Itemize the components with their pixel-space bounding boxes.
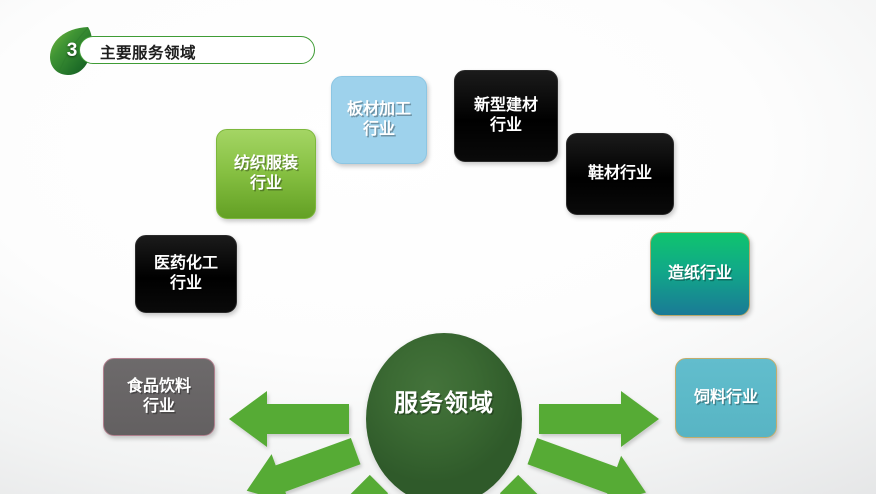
hub-label: 服务领域 [394, 383, 494, 418]
node-panel-label: 板材加工 行业 [347, 100, 411, 139]
node-textile[interactable]: 纺织服装 行业 [216, 129, 316, 219]
node-panel[interactable]: 板材加工 行业 [331, 76, 427, 164]
arrow-to-food [229, 391, 349, 447]
node-food-label: 食品饮料 行业 [127, 377, 191, 416]
slide-canvas: 3 主要服务领域 服务领域 纺织服装 行业板材加工 行业新型建材 行业鞋材行业医… [0, 0, 876, 494]
node-newmaterial[interactable]: 新型建材 行业 [454, 70, 558, 162]
hub-node-service-domain[interactable]: 服务领域 [366, 333, 522, 494]
node-pharma[interactable]: 医药化工 行业 [135, 235, 237, 313]
node-food[interactable]: 食品饮料 行业 [103, 358, 215, 436]
node-feed[interactable]: 饲料行业 [675, 358, 777, 438]
node-paper-label: 造纸行业 [668, 264, 732, 284]
node-paper[interactable]: 造纸行业 [650, 232, 750, 316]
arrow-to-feed [539, 391, 659, 447]
arrow-to-paper [528, 438, 647, 494]
node-feed-label: 饲料行业 [694, 388, 758, 408]
node-pharma-label: 医药化工 行业 [154, 254, 218, 293]
node-shoe-label: 鞋材行业 [588, 164, 652, 184]
arrow-to-pharma [247, 438, 361, 494]
node-textile-label: 纺织服装 行业 [234, 154, 298, 193]
node-newmaterial-label: 新型建材 行业 [474, 96, 538, 135]
node-shoe[interactable]: 鞋材行业 [566, 133, 674, 215]
